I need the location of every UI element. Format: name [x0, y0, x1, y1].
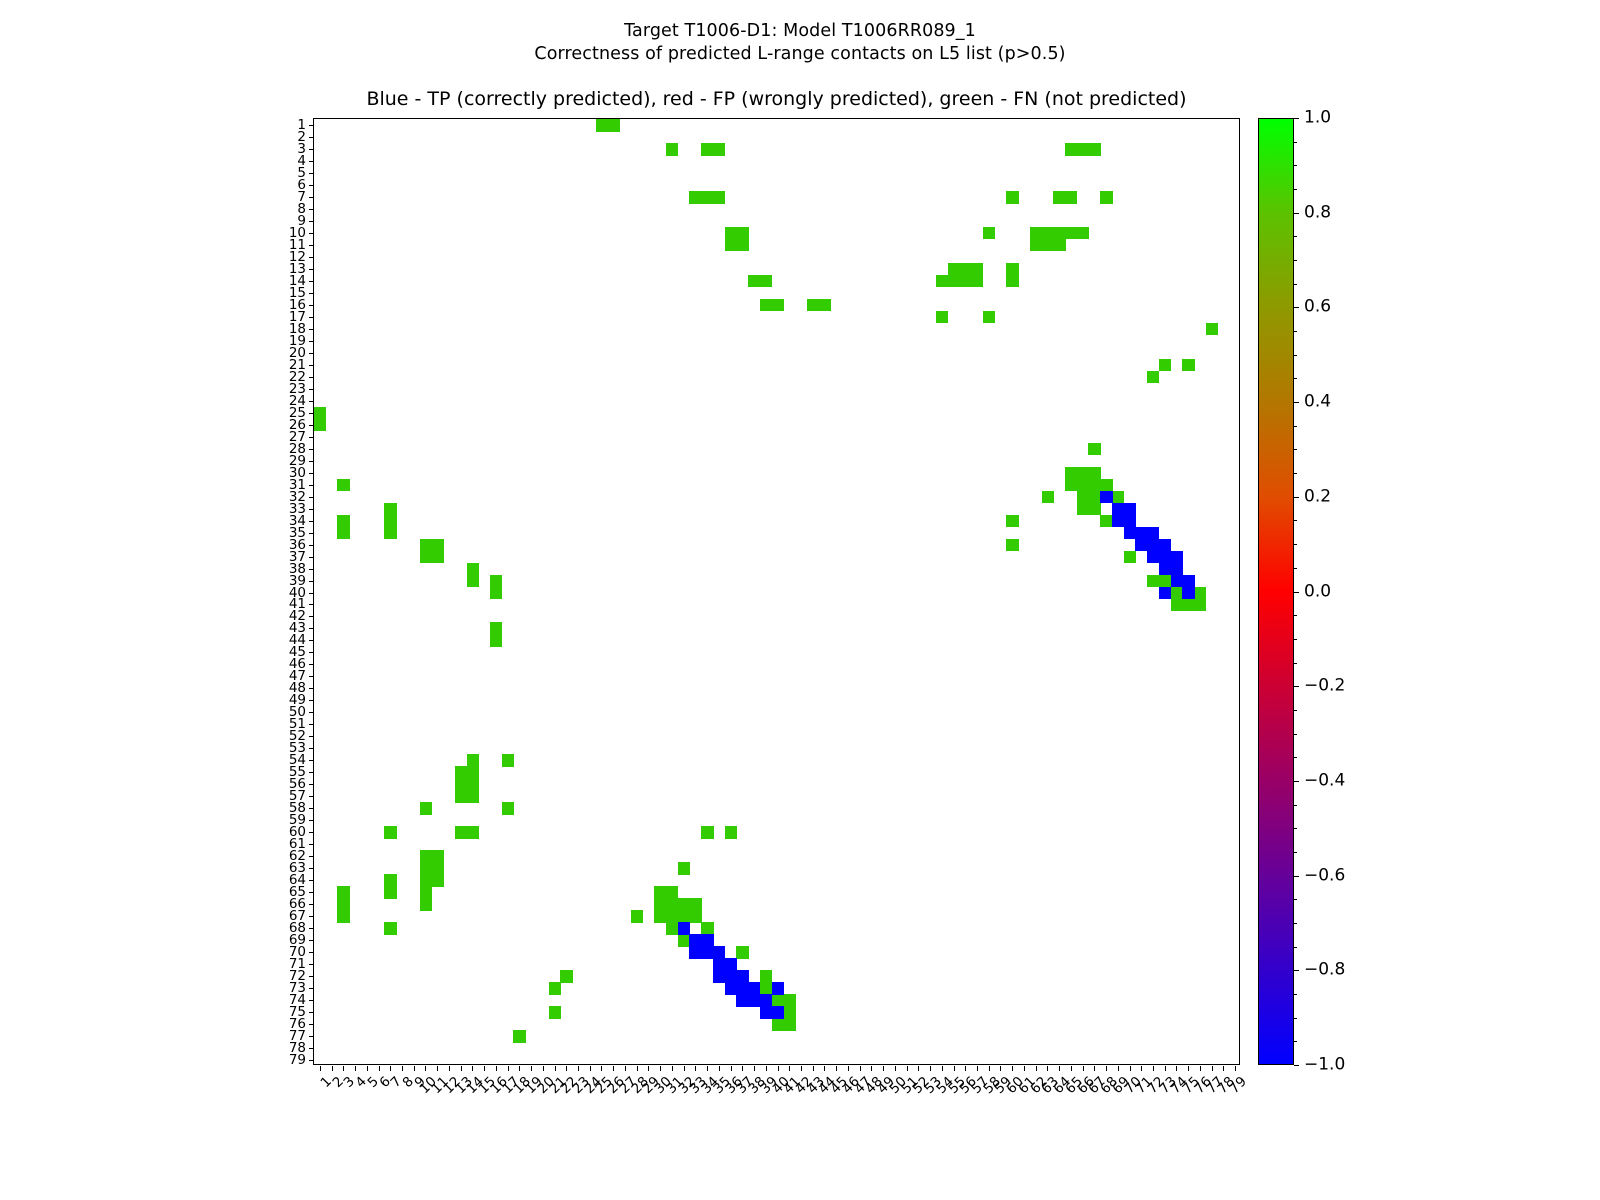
y-tick-mark — [309, 700, 314, 701]
heatmap-cell-fn — [455, 790, 467, 803]
y-tick-mark — [309, 724, 314, 725]
x-tick-mark — [1118, 1066, 1119, 1071]
heatmap-matrix — [314, 119, 1239, 1064]
heatmap-cell-fn — [1053, 191, 1065, 204]
x-tick-mark — [425, 1066, 426, 1071]
heatmap-cell-fn — [654, 898, 666, 911]
heatmap-cell-fn — [420, 886, 432, 899]
heatmap-cell-tp — [713, 958, 725, 971]
y-tick-mark — [309, 269, 314, 270]
heatmap-cell-tp — [772, 982, 784, 995]
heatmap-cell-fn — [1077, 503, 1089, 516]
y-tick-mark — [309, 808, 314, 809]
y-tick-mark — [309, 161, 314, 162]
heatmap-cell-tp — [748, 994, 760, 1007]
heatmap-cell-fn — [455, 766, 467, 779]
heatmap-cell-tp — [1159, 587, 1171, 600]
heatmap-cell-fn — [1065, 227, 1077, 240]
heatmap-cell-fn — [1088, 443, 1100, 456]
heatmap-cell-tp — [1135, 539, 1147, 552]
y-tick-mark — [309, 245, 314, 246]
colorbar-major-tick — [1294, 118, 1299, 119]
y-tick-mark — [309, 892, 314, 893]
colorbar-minor-tick — [1294, 828, 1297, 829]
axes-title: Blue - TP (correctly predicted), red - F… — [313, 88, 1240, 110]
heatmap-cell-fn — [490, 622, 502, 635]
heatmap-cell-fn — [1182, 359, 1194, 372]
y-tick-mark — [309, 293, 314, 294]
heatmap-cell-tp — [1100, 491, 1112, 504]
heatmap-cell-fn — [431, 551, 443, 564]
heatmap-cell-fn — [654, 910, 666, 923]
heatmap-cell-tp — [736, 970, 748, 983]
colorbar-minor-tick — [1294, 520, 1297, 521]
heatmap-cell-tp — [1159, 551, 1171, 564]
colorbar-tick-label: 0.4 — [1304, 394, 1331, 411]
x-tick-mark — [1071, 1066, 1072, 1071]
heatmap-cell-fn — [455, 826, 467, 839]
colorbar-minor-tick — [1294, 757, 1297, 758]
heatmap-cell-fn — [1053, 239, 1065, 252]
heatmap-cell-fn — [983, 311, 995, 324]
heatmap-cell-fn — [607, 119, 619, 132]
x-tick-mark — [496, 1066, 497, 1071]
x-tick-mark — [555, 1066, 556, 1071]
x-tick-mark — [965, 1066, 966, 1071]
colorbar-minor-tick — [1294, 899, 1297, 900]
heatmap-cell-fn — [1042, 227, 1054, 240]
x-tick-mark — [895, 1066, 896, 1071]
heatmap-cell-fn — [384, 527, 396, 540]
heatmap-cell-fn — [701, 191, 713, 204]
heatmap-cell-fn — [983, 227, 995, 240]
colorbar-minor-tick — [1294, 142, 1297, 143]
heatmap-cell-tp — [1171, 563, 1183, 576]
heatmap-cell-fn — [1147, 575, 1159, 588]
heatmap-cell-tp — [713, 946, 725, 959]
heatmap-cell-fn — [948, 263, 960, 276]
y-tick-mark — [309, 149, 314, 150]
heatmap-cell-fn — [1030, 227, 1042, 240]
colorbar-tick-label: 0.0 — [1304, 583, 1331, 600]
heatmap-cell-fn — [1088, 467, 1100, 480]
x-tick-mark — [1176, 1066, 1177, 1071]
heatmap-cell-fn — [1030, 239, 1042, 252]
colorbar-major-tick — [1294, 970, 1299, 971]
heatmap-cell-tp — [1147, 527, 1159, 540]
y-tick-mark — [309, 233, 314, 234]
heatmap-cell-tp — [1159, 563, 1171, 576]
y-tick-mark — [309, 185, 314, 186]
heatmap-cell-fn — [1112, 491, 1124, 504]
heatmap-cell-fn — [1171, 587, 1183, 600]
y-tick-mark — [309, 640, 314, 641]
colorbar-tick-label: −0.2 — [1304, 678, 1345, 695]
heatmap-cell-fn — [1194, 598, 1206, 611]
heatmap-cell-tp — [689, 946, 701, 959]
heatmap-cell-fn — [971, 275, 983, 288]
heatmap-cell-fn — [959, 275, 971, 288]
y-tick-mark — [309, 904, 314, 905]
y-tick-mark — [309, 688, 314, 689]
heatmap-cell-fn — [1077, 467, 1089, 480]
x-tick-mark — [766, 1066, 767, 1071]
y-tick-mark — [309, 676, 314, 677]
heatmap-cell-tp — [1171, 575, 1183, 588]
heatmap-cell-fn — [760, 970, 772, 983]
x-tick-mark — [414, 1066, 415, 1071]
x-tick-mark — [684, 1066, 685, 1071]
heatmap-cell-fn — [736, 946, 748, 959]
colorbar-minor-tick — [1294, 355, 1297, 356]
heatmap-cell-fn — [384, 503, 396, 516]
heatmap-cell-fn — [1053, 227, 1065, 240]
y-tick-mark — [309, 557, 314, 558]
heatmap-cell-fn — [1194, 587, 1206, 600]
heatmap-cell-fn — [420, 874, 432, 887]
heatmap-cell-fn — [560, 970, 572, 983]
x-tick-mark — [648, 1066, 649, 1071]
heatmap-cell-fn — [502, 754, 514, 767]
heatmap-cell-fn — [701, 826, 713, 839]
x-tick-mark — [543, 1066, 544, 1071]
x-tick-mark — [1106, 1066, 1107, 1071]
x-tick-mark — [871, 1066, 872, 1071]
heatmap-cell-fn — [736, 227, 748, 240]
x-tick-mark — [801, 1066, 802, 1071]
colorbar-minor-tick — [1294, 165, 1297, 166]
x-tick-mark — [461, 1066, 462, 1071]
heatmap-cell-fn — [467, 754, 479, 767]
heatmap-cell-fn — [666, 910, 678, 923]
y-tick-mark — [309, 137, 314, 138]
x-tick-mark — [1165, 1066, 1166, 1071]
x-tick-mark — [1235, 1066, 1236, 1071]
y-tick-mark — [309, 437, 314, 438]
heatmap-cell-fn — [384, 922, 396, 935]
x-tick-mark — [778, 1066, 779, 1071]
heatmap-cell-tp — [713, 970, 725, 983]
x-tick-mark — [531, 1066, 532, 1071]
y-tick-mark — [309, 664, 314, 665]
y-tick-mark — [309, 533, 314, 534]
y-tick-mark — [309, 760, 314, 761]
heatmap-cell-fn — [713, 191, 725, 204]
y-tick-mark — [309, 928, 314, 929]
x-tick-mark — [637, 1066, 638, 1071]
figure-suptitle: Target T1006-D1: Model T1006RR089_1 Corr… — [0, 20, 1600, 66]
heatmap-cell-tp — [725, 958, 737, 971]
y-tick-label: 79 — [289, 1054, 306, 1066]
x-tick-mark — [437, 1066, 438, 1071]
x-tick-mark — [519, 1066, 520, 1071]
suptitle-line-1: Target T1006-D1: Model T1006RR089_1 — [0, 20, 1600, 43]
y-tick-mark — [309, 377, 314, 378]
heatmap-cell-fn — [420, 862, 432, 875]
heatmap-cell-fn — [689, 898, 701, 911]
y-tick-mark — [309, 832, 314, 833]
y-tick-mark — [309, 485, 314, 486]
x-tick-mark — [836, 1066, 837, 1071]
y-tick-mark — [309, 569, 314, 570]
heatmap-cell-fn — [431, 539, 443, 552]
x-tick-mark — [1153, 1066, 1154, 1071]
y-tick-mark — [309, 736, 314, 737]
colorbar-minor-tick — [1294, 923, 1297, 924]
colorbar-minor-tick — [1294, 189, 1297, 190]
heatmap-cell-tp — [748, 982, 760, 995]
heatmap-cell-fn — [1159, 359, 1171, 372]
x-tick-mark — [578, 1066, 579, 1071]
heatmap-cell-fn — [948, 275, 960, 288]
y-tick-mark — [309, 616, 314, 617]
x-tick-mark — [907, 1066, 908, 1071]
heatmap-cell-fn — [783, 1018, 795, 1031]
y-tick-mark — [309, 1012, 314, 1013]
heatmap-cell-fn — [959, 263, 971, 276]
y-tick-mark — [309, 1060, 314, 1061]
heatmap-cell-fn — [701, 922, 713, 935]
heatmap-cell-tp — [760, 994, 772, 1007]
heatmap-cell-fn — [666, 143, 678, 156]
heatmap-cell-fn — [513, 1030, 525, 1043]
y-tick-mark — [309, 461, 314, 462]
x-tick-mark — [601, 1066, 602, 1071]
x-tick-mark — [860, 1066, 861, 1071]
colorbar-tick-label: 0.2 — [1304, 488, 1331, 505]
heatmap-cell-tp — [689, 934, 701, 947]
y-tick-mark — [309, 257, 314, 258]
heatmap-cell-fn — [1042, 491, 1054, 504]
y-tick-mark — [309, 509, 314, 510]
y-tick-mark — [309, 281, 314, 282]
colorbar-minor-tick — [1294, 1041, 1297, 1042]
colorbar-major-tick — [1294, 876, 1299, 877]
heatmap-cell-fn — [772, 994, 784, 1007]
x-tick-mark — [1036, 1066, 1037, 1071]
heatmap-cell-fn — [467, 790, 479, 803]
x-tick-mark — [484, 1066, 485, 1071]
heatmap-cell-fn — [1077, 227, 1089, 240]
heatmap-cell-fn — [490, 634, 502, 647]
heatmap-cell-fn — [1100, 479, 1112, 492]
x-tick-mark — [367, 1066, 368, 1071]
heatmap-cell-fn — [384, 515, 396, 528]
colorbar-minor-tick — [1294, 994, 1297, 995]
suptitle-line-2: Correctness of predicted L-range contact… — [0, 43, 1600, 66]
heatmap-cell-tp — [772, 1006, 784, 1019]
heatmap-cell-fn — [725, 239, 737, 252]
x-tick-mark — [508, 1066, 509, 1071]
y-tick-mark — [309, 449, 314, 450]
heatmap-cell-fn — [678, 910, 690, 923]
heatmap-cell-fn — [783, 994, 795, 1007]
heatmap-cell-tp — [701, 934, 713, 947]
heatmap-cell-fn — [936, 311, 948, 324]
heatmap-cell-tp — [1147, 551, 1159, 564]
heatmap-cell-fn — [1077, 479, 1089, 492]
colorbar-major-tick — [1294, 402, 1299, 403]
y-tick-mark — [309, 401, 314, 402]
x-tick-mark — [1024, 1066, 1025, 1071]
colorbar-minor-tick — [1294, 260, 1297, 261]
colorbar-major-tick — [1294, 307, 1299, 308]
colorbar-minor-tick — [1294, 236, 1297, 237]
y-tick-mark — [309, 197, 314, 198]
colorbar-tick-label: −0.4 — [1304, 772, 1345, 789]
colorbar-major-tick — [1294, 1065, 1299, 1066]
colorbar: 1.00.80.60.40.20.0−0.2−0.4−0.6−0.8−1.0 — [1258, 118, 1294, 1065]
colorbar-major-tick — [1294, 497, 1299, 498]
heatmap-cell-tp — [1112, 503, 1124, 516]
heatmap-cell-fn — [689, 910, 701, 923]
heatmap-cell-fn — [431, 850, 443, 863]
y-tick-mark — [309, 916, 314, 917]
heatmap-cell-fn — [1147, 371, 1159, 384]
y-tick-mark — [309, 1036, 314, 1037]
x-tick-mark — [813, 1066, 814, 1071]
y-tick-mark — [309, 856, 314, 857]
heatmap-cell-fn — [725, 826, 737, 839]
heatmap-cell-tp — [701, 946, 713, 959]
y-tick-mark — [309, 473, 314, 474]
heatmap-cell-fn — [936, 275, 948, 288]
colorbar-minor-tick — [1294, 639, 1297, 640]
y-tick-mark — [309, 209, 314, 210]
y-tick-mark — [309, 365, 314, 366]
heatmap-cell-fn — [1159, 575, 1171, 588]
heatmap-cell-tp — [1124, 527, 1136, 540]
heatmap-cell-fn — [748, 275, 760, 288]
y-tick-mark — [309, 221, 314, 222]
y-tick-mark — [309, 964, 314, 965]
heatmap-cell-fn — [314, 419, 326, 432]
x-tick-mark — [402, 1066, 403, 1071]
x-tick-mark — [977, 1066, 978, 1071]
x-tick-mark — [1000, 1066, 1001, 1071]
x-tick-mark — [449, 1066, 450, 1071]
y-tick-mark — [309, 413, 314, 414]
y-tick-mark — [309, 880, 314, 881]
heatmap-cell-fn — [490, 587, 502, 600]
y-tick-mark — [309, 305, 314, 306]
heatmap-cell-fn — [1088, 143, 1100, 156]
heatmap-cell-fn — [678, 862, 690, 875]
y-tick-mark — [309, 748, 314, 749]
heatmap-cell-fn — [1065, 467, 1077, 480]
heatmap-cell-fn — [1206, 323, 1218, 336]
x-tick-mark — [1047, 1066, 1048, 1071]
heatmap-cell-fn — [725, 227, 737, 240]
colorbar-minor-tick — [1294, 568, 1297, 569]
heatmap-cell-fn — [337, 886, 349, 899]
x-tick-mark — [954, 1066, 955, 1071]
heatmap-cell-fn — [736, 239, 748, 252]
colorbar-major-tick — [1294, 686, 1299, 687]
heatmap-cell-tp — [1182, 587, 1194, 600]
y-tick-mark — [309, 1000, 314, 1001]
heatmap-cell-fn — [1182, 598, 1194, 611]
heatmap-cell-tp — [1124, 515, 1136, 528]
heatmap-cell-fn — [1006, 275, 1018, 288]
x-tick-mark — [566, 1066, 567, 1071]
heatmap-cell-fn — [678, 898, 690, 911]
heatmap-cell-fn — [713, 143, 725, 156]
heatmap-cell-tp — [678, 922, 690, 935]
heatmap-cell-fn — [1100, 515, 1112, 528]
heatmap-cell-tp — [1147, 539, 1159, 552]
x-tick-mark — [1094, 1066, 1095, 1071]
x-tick-mark — [332, 1066, 333, 1071]
heatmap-cell-fn — [467, 766, 479, 779]
colorbar-tick-label: −0.6 — [1304, 867, 1345, 884]
colorbar-minor-tick — [1294, 947, 1297, 948]
x-tick-mark — [590, 1066, 591, 1071]
heatmap-cell-tp — [725, 982, 737, 995]
x-tick-mark — [942, 1066, 943, 1071]
colorbar-minor-tick — [1294, 331, 1297, 332]
heatmap-cell-fn — [1171, 598, 1183, 611]
y-tick-mark — [309, 940, 314, 941]
heatmap-cell-fn — [760, 982, 772, 995]
x-tick-mark — [379, 1066, 380, 1071]
y-tick-mark — [309, 712, 314, 713]
heatmap-cell-fn — [1077, 491, 1089, 504]
heatmap-cell-fn — [337, 898, 349, 911]
x-tick-mark — [390, 1066, 391, 1071]
y-tick-mark — [309, 581, 314, 582]
x-tick-mark — [754, 1066, 755, 1071]
y-tick-mark — [309, 628, 314, 629]
heatmap-cell-fn — [1006, 539, 1018, 552]
colorbar-tick-label: 0.6 — [1304, 299, 1331, 316]
x-tick-mark — [613, 1066, 614, 1071]
heatmap-cell-fn — [467, 826, 479, 839]
x-tick-mark — [707, 1066, 708, 1071]
y-tick-mark — [309, 341, 314, 342]
colorbar-minor-tick — [1294, 615, 1297, 616]
heatmap-cell-fn — [666, 886, 678, 899]
colorbar-minor-tick — [1294, 544, 1297, 545]
colorbar-major-tick — [1294, 592, 1299, 593]
heatmap-cell-fn — [502, 802, 514, 815]
colorbar-minor-tick — [1294, 378, 1297, 379]
x-tick-mark — [1130, 1066, 1131, 1071]
y-tick-mark — [309, 976, 314, 977]
heatmap-cell-fn — [654, 886, 666, 899]
x-tick-mark — [1188, 1066, 1189, 1071]
y-tick-mark — [309, 844, 314, 845]
y-tick-mark — [309, 497, 314, 498]
x-tick-mark — [343, 1066, 344, 1071]
x-tick-mark — [824, 1066, 825, 1071]
heatmap-cell-fn — [1088, 503, 1100, 516]
y-tick-mark — [309, 317, 314, 318]
heatmap-cell-fn — [1100, 191, 1112, 204]
heatmap-cell-fn — [666, 922, 678, 935]
colorbar-minor-tick — [1294, 426, 1297, 427]
x-tick-mark — [472, 1066, 473, 1071]
heatmap-cell-fn — [420, 898, 432, 911]
colorbar-minor-tick — [1294, 805, 1297, 806]
y-tick-mark — [309, 125, 314, 126]
heatmap-cell-fn — [701, 143, 713, 156]
heatmap-cell-fn — [1077, 143, 1089, 156]
heatmap-cell-tp — [725, 970, 737, 983]
heatmap-cell-fn — [420, 802, 432, 815]
heatmap-cell-fn — [431, 874, 443, 887]
y-tick-mark — [309, 593, 314, 594]
